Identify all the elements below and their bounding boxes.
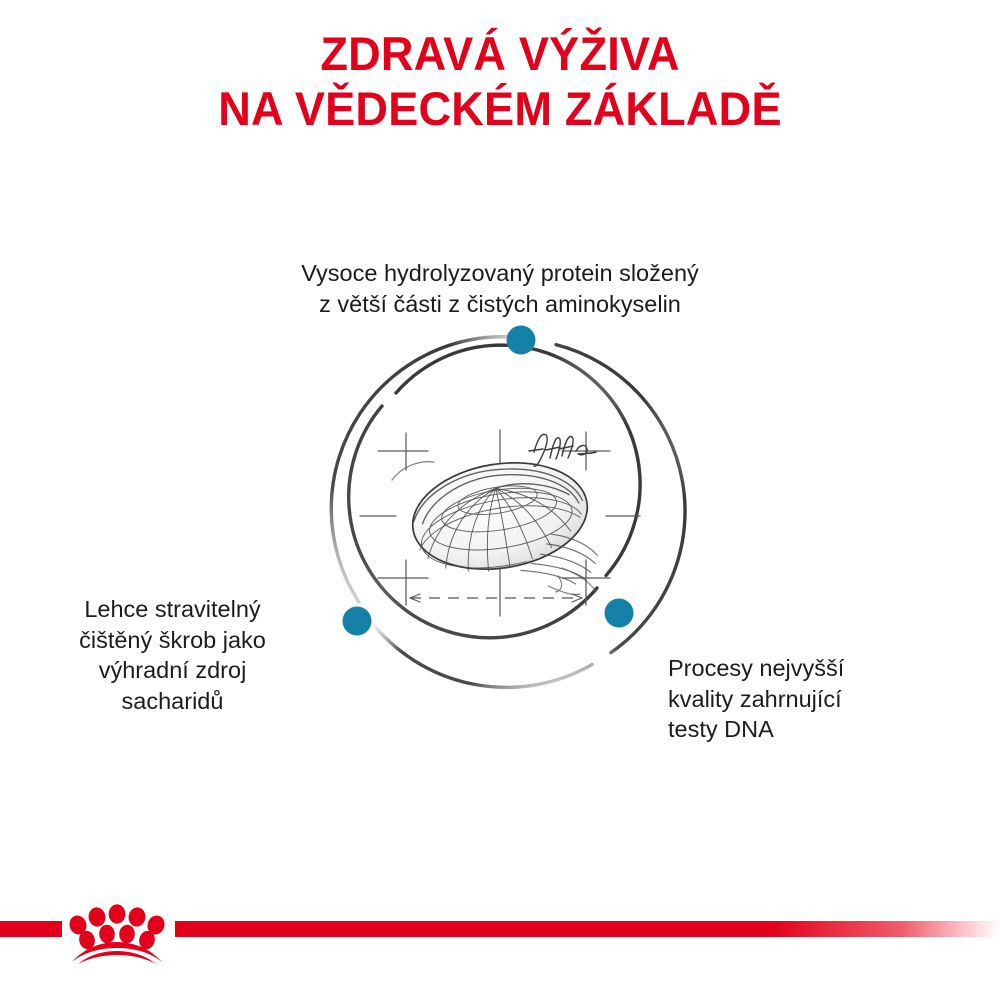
footer-rule-right — [175, 921, 1000, 937]
dimension-line — [410, 594, 582, 602]
callout-starch-line-4: sacharidů — [30, 686, 315, 717]
callout-starch-line-3: výhradní zdroj — [30, 655, 315, 686]
callout-protein: Vysoce hydrolyzovaný protein složený z v… — [250, 258, 750, 319]
infographic-stage: Vysoce hydrolyzovaný protein složený z v… — [0, 150, 1000, 850]
callout-protein-line-1: Vysoce hydrolyzovaný protein složený — [250, 258, 750, 289]
node-starch[interactable] — [343, 607, 372, 636]
callout-starch-line-2: čištěný škrob jako — [30, 625, 315, 656]
node-protein[interactable] — [507, 326, 536, 355]
node-quality[interactable] — [605, 599, 634, 628]
callout-quality-line-2: kvality zahrnující — [668, 684, 958, 715]
footer-rule-left — [0, 921, 62, 937]
callout-protein-line-2: z větší části z čistých aminokyselin — [250, 289, 750, 320]
callout-quality-line-3: testy DNA — [668, 714, 958, 745]
brand-footer — [0, 890, 1000, 1000]
callout-quality-line-1: Procesy nejvyšší — [668, 653, 958, 684]
page-title-line-2: NA VĚDECKÉM ZÁKLADĚ — [20, 81, 980, 136]
page-title-line-1: ZDRAVÁ VÝŽIVA — [20, 26, 980, 81]
callout-starch-line-1: Lehce stravitelný — [30, 594, 315, 625]
circular-diagram — [310, 320, 690, 700]
callout-quality: Procesy nejvyšší kvality zahrnující test… — [668, 653, 958, 745]
royal-canin-crown-icon — [56, 898, 178, 964]
page-title: ZDRAVÁ VÝŽIVA NA VĚDECKÉM ZÁKLADĚ — [20, 26, 980, 137]
outer-arc-bottom — [371, 621, 593, 688]
callout-starch: Lehce stravitelný čištěný škrob jako výh… — [30, 594, 315, 716]
kibble-body — [405, 451, 601, 608]
